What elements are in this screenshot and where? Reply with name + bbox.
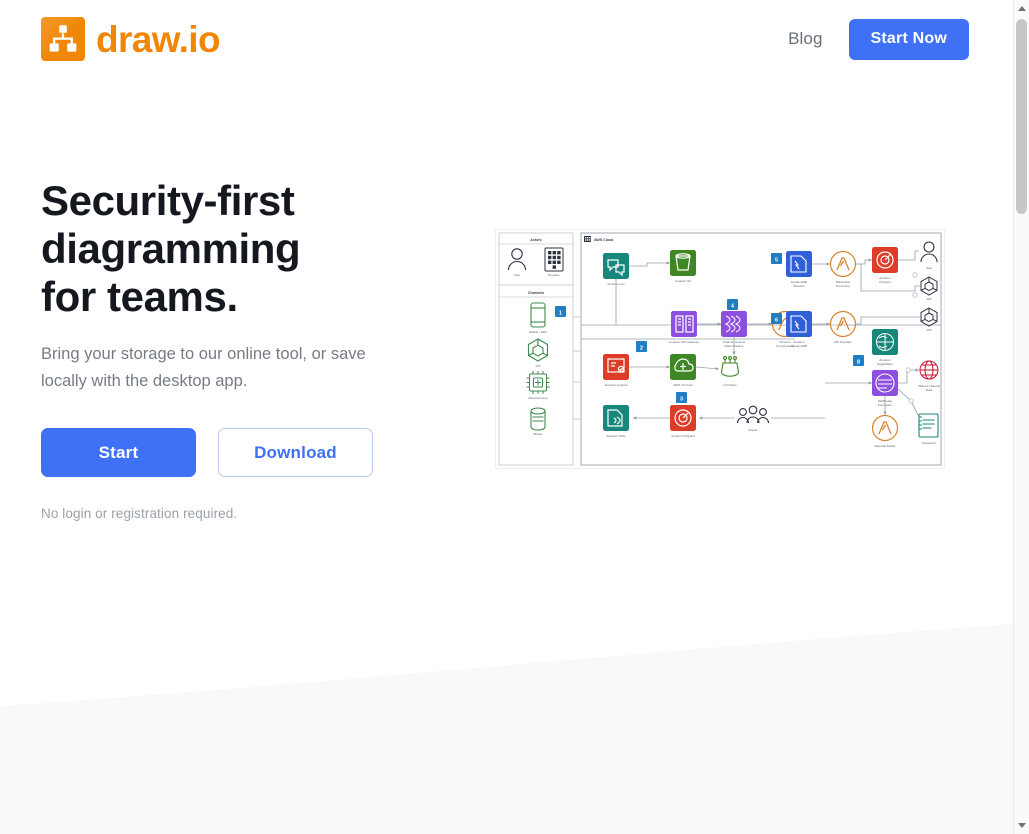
svg-text:SageMaker: SageMaker — [877, 362, 893, 366]
hero-figure: .nl { font-family: "Liberation Sans", sa… — [471, 229, 969, 487]
svg-text:6: 6 — [775, 317, 778, 323]
scroll-down-arrow[interactable] — [1014, 817, 1029, 834]
drawio-logo-icon — [41, 17, 85, 61]
svg-text:API Function: API Function — [834, 340, 852, 344]
page-title: Security-first diagramming for teams. — [41, 177, 361, 321]
svg-text:IoT Rules: IoT Rules — [723, 383, 737, 387]
svg-text:5: 5 — [775, 257, 778, 263]
svg-text:Amazon S3: Amazon S3 — [675, 279, 691, 283]
svg-text:Clients: Clients — [748, 428, 758, 432]
svg-text:Streams: Streams — [793, 284, 805, 288]
section-divider-wedge — [0, 624, 1013, 834]
svg-text:Amazon Pinpoint: Amazon Pinpoint — [671, 434, 695, 438]
scrollbar-thumb[interactable] — [1016, 19, 1027, 214]
svg-text:AWS Cloud: AWS Cloud — [594, 238, 613, 242]
brand-name: draw.io — [96, 21, 220, 58]
start-button[interactable]: Start — [41, 428, 196, 477]
svg-text:API: API — [536, 364, 541, 368]
aws-architecture-diagram: .nl { font-family: "Liberation Sans", sa… — [495, 229, 945, 469]
svg-text:Amazon Polly: Amazon Polly — [607, 434, 626, 438]
svg-text:Program: Program — [548, 273, 560, 277]
svg-text:3: 3 — [680, 396, 683, 402]
header-nav: Blog Start Now — [788, 19, 969, 60]
hero-note: No login or registration required. — [41, 506, 471, 521]
hero-subtitle: Bring your storage to our online tool, o… — [41, 341, 401, 395]
svg-text:Pinpoint: Pinpoint — [879, 280, 890, 284]
start-now-button[interactable]: Start Now — [849, 19, 969, 60]
hero-section: Security-first diagramming for teams. Br… — [0, 78, 1013, 638]
svg-text:Microservices: Microservices — [529, 396, 548, 400]
brand-logo-link[interactable]: draw.io — [41, 17, 220, 61]
nav-link-blog[interactable]: Blog — [788, 29, 822, 49]
svg-text:User: User — [926, 266, 933, 270]
svg-text:Data: Data — [926, 388, 933, 392]
svg-text:Amazon Cognito: Amazon Cognito — [605, 383, 628, 387]
svg-text:Actors: Actors — [530, 238, 541, 242]
svg-text:Processor: Processor — [836, 284, 850, 288]
svg-text:4: 4 — [731, 303, 734, 309]
download-button[interactable]: Download — [218, 428, 373, 477]
svg-text:Mobile / Web: Mobile / Web — [529, 330, 547, 334]
svg-text:Broker: Broker — [533, 432, 542, 436]
svg-text:Channels: Channels — [528, 291, 544, 295]
svg-text:2: 2 — [640, 345, 643, 351]
svg-text:Research: Research — [922, 441, 936, 445]
site-header: draw.io Blog Start Now — [0, 0, 1013, 78]
svg-text:1: 1 — [559, 310, 562, 316]
svg-text:API: API — [927, 297, 932, 301]
svg-text:8: 8 — [857, 359, 860, 365]
hero-actions: Start Download — [41, 428, 471, 477]
svg-text:User: User — [514, 273, 521, 277]
page-content: draw.io Blog Start Now Security-first di… — [0, 0, 1013, 834]
svg-text:External Model: External Model — [875, 444, 896, 448]
svg-text:AWS IoT Core: AWS IoT Core — [673, 383, 693, 387]
page-scrollbar[interactable] — [1013, 0, 1029, 834]
scroll-up-arrow[interactable] — [1014, 0, 1029, 17]
svg-text:API: API — [927, 328, 932, 332]
svg-text:DynamoDB: DynamoDB — [791, 344, 807, 348]
hero-copy: Security-first diagramming for teams. Br… — [41, 177, 471, 539]
browser-viewport: draw.io Blog Start Now Security-first di… — [0, 0, 1029, 834]
svg-text:Amazon API Gateway: Amazon API Gateway — [669, 340, 700, 344]
